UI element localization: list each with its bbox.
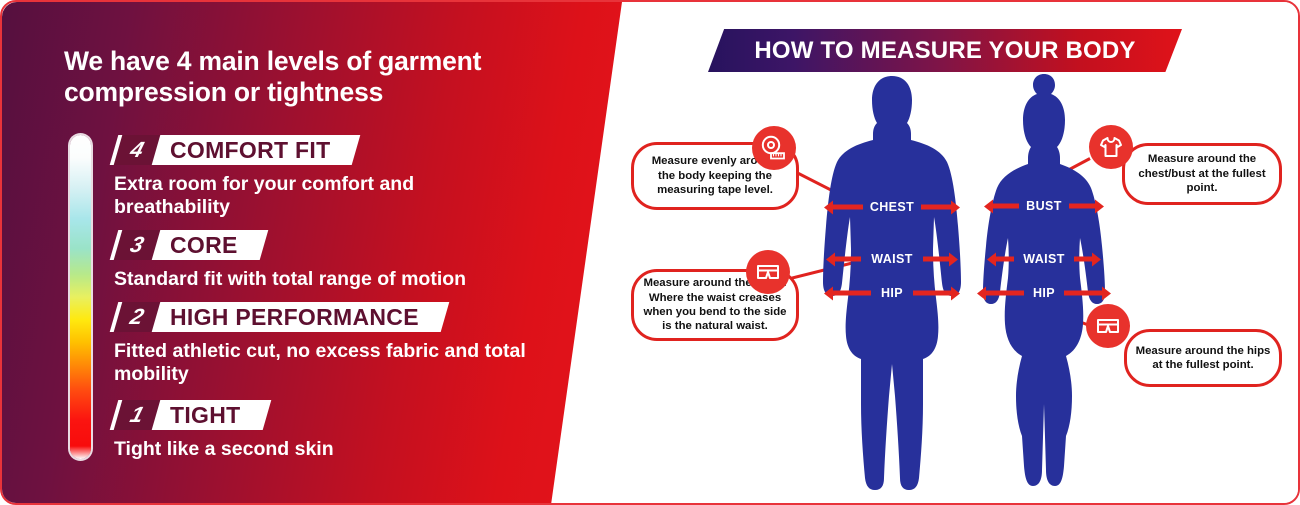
- infographic-root: We have 4 main levels of garment compres…: [0, 0, 1300, 505]
- shorts-waist-icon: [746, 250, 790, 294]
- level-badge-3: 3 CORE: [110, 230, 268, 260]
- level-badge-2: 2 HIGH PERFORMANCE: [110, 302, 449, 332]
- level-name-3: CORE: [156, 230, 248, 260]
- compression-levels-panel: We have 4 main levels of garment compres…: [2, 2, 622, 505]
- male-silhouette: [817, 74, 967, 492]
- measure-banner-title: HOW TO MEASURE YOUR BODY: [754, 37, 1135, 65]
- level-number-2: 2: [114, 302, 161, 332]
- male-waist-label: WAIST: [871, 252, 913, 266]
- level-item-1[interactable]: 1 TIGHT Tight like a second skin: [114, 400, 534, 461]
- female-waist-label: WAIST: [1023, 252, 1065, 266]
- measuring-tape-icon: [752, 126, 796, 170]
- level-desc-3: Standard fit with total range of motion: [114, 268, 534, 291]
- compression-gradient-bar-icon: [70, 135, 91, 459]
- female-hip-label: HIP: [1033, 286, 1055, 300]
- level-number-4: 4: [114, 135, 161, 165]
- level-name-2: HIGH PERFORMANCE: [156, 302, 429, 332]
- female-bust-label: BUST: [1026, 199, 1062, 213]
- level-number-1: 1: [114, 400, 161, 430]
- measurement-guide-panel: HOW TO MEASURE YOUR BODY CHEST WAIST HIP: [622, 2, 1300, 505]
- male-chest-label: CHEST: [870, 200, 914, 214]
- level-badge-4: 4 COMFORT FIT: [110, 135, 361, 165]
- male-hip-label: HIP: [881, 286, 903, 300]
- level-desc-2: Fitted athletic cut, no excess fabric an…: [114, 340, 534, 386]
- level-badge-1: 1 TIGHT: [110, 400, 271, 430]
- tshirt-icon: [1089, 125, 1133, 169]
- level-name-4: COMFORT FIT: [156, 135, 340, 165]
- level-desc-1: Tight like a second skin: [114, 438, 534, 461]
- level-desc-4: Extra room for your comfort and breathab…: [114, 173, 534, 219]
- level-item-4[interactable]: 4 COMFORT FIT Extra room for your comfor…: [114, 135, 534, 219]
- level-item-3[interactable]: 3 CORE Standard fit with total range of …: [114, 230, 534, 291]
- measure-banner: HOW TO MEASURE YOUR BODY: [708, 29, 1182, 72]
- callout-hips: Measure around the hips at the fullest p…: [1124, 329, 1282, 387]
- level-number-3: 3: [114, 230, 161, 260]
- callout-chest-bust: Measure around the chest/bust at the ful…: [1122, 143, 1282, 205]
- page-title: We have 4 main levels of garment compres…: [64, 46, 534, 109]
- level-item-2[interactable]: 2 HIGH PERFORMANCE Fitted athletic cut, …: [114, 302, 534, 386]
- shorts-hip-icon: [1086, 304, 1130, 348]
- level-name-1: TIGHT: [156, 400, 251, 430]
